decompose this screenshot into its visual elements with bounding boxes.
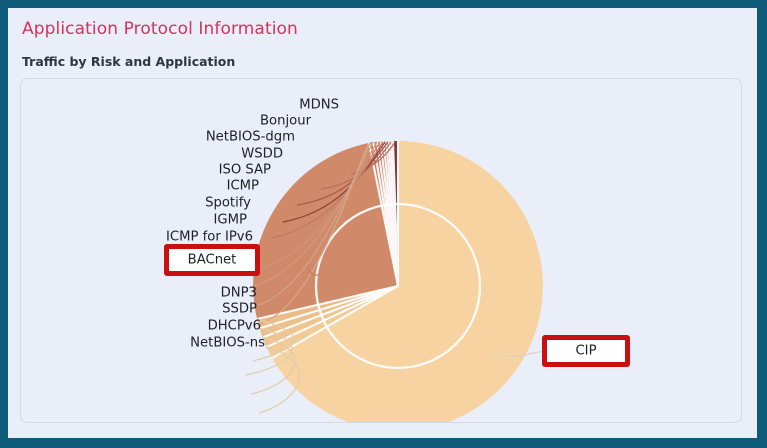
chart-label-iso-sap: ISO SAP [219, 163, 271, 178]
chart-label-ssdp: SSDP [222, 302, 257, 317]
chart-label-cip: CIP [547, 344, 625, 359]
chart-label-mdns: MDNS [299, 98, 339, 113]
sunburst-chart[interactable] [21, 79, 742, 423]
chart-panel: MDNS Bonjour NetBIOS-dgm WSDD ISO SAP IC… [20, 78, 742, 423]
chart-label-netbios-ns: NetBIOS-ns [190, 336, 265, 351]
chart-label-bonjour: Bonjour [260, 114, 311, 129]
highlight-box-cip[interactable]: CIP [542, 335, 630, 367]
chart-label-dnp3: DNP3 [221, 286, 257, 301]
chart-label-spotify: Spotify [205, 196, 251, 211]
chart-label-netbios-dgm: NetBIOS-dgm [206, 130, 295, 145]
chart-label-wsdd: WSDD [241, 147, 283, 162]
chart-label-igmp: IGMP [214, 213, 247, 228]
chart-label-bacnet: BACnet [169, 253, 255, 268]
chart-section-title: Traffic by Risk and Application [22, 54, 235, 69]
highlight-box-bacnet[interactable]: BACnet [164, 244, 260, 276]
page-title: Application Protocol Information [22, 19, 298, 39]
chart-label-dhcpv6: DHCPv6 [208, 319, 261, 334]
report-window: Application Protocol Information Traffic… [8, 8, 757, 438]
chart-label-icmp: ICMP [227, 179, 259, 194]
outer-ring[interactable] [253, 141, 543, 423]
chart-label-icmp-for-ipv6: ICMP for IPv6 [166, 230, 253, 245]
